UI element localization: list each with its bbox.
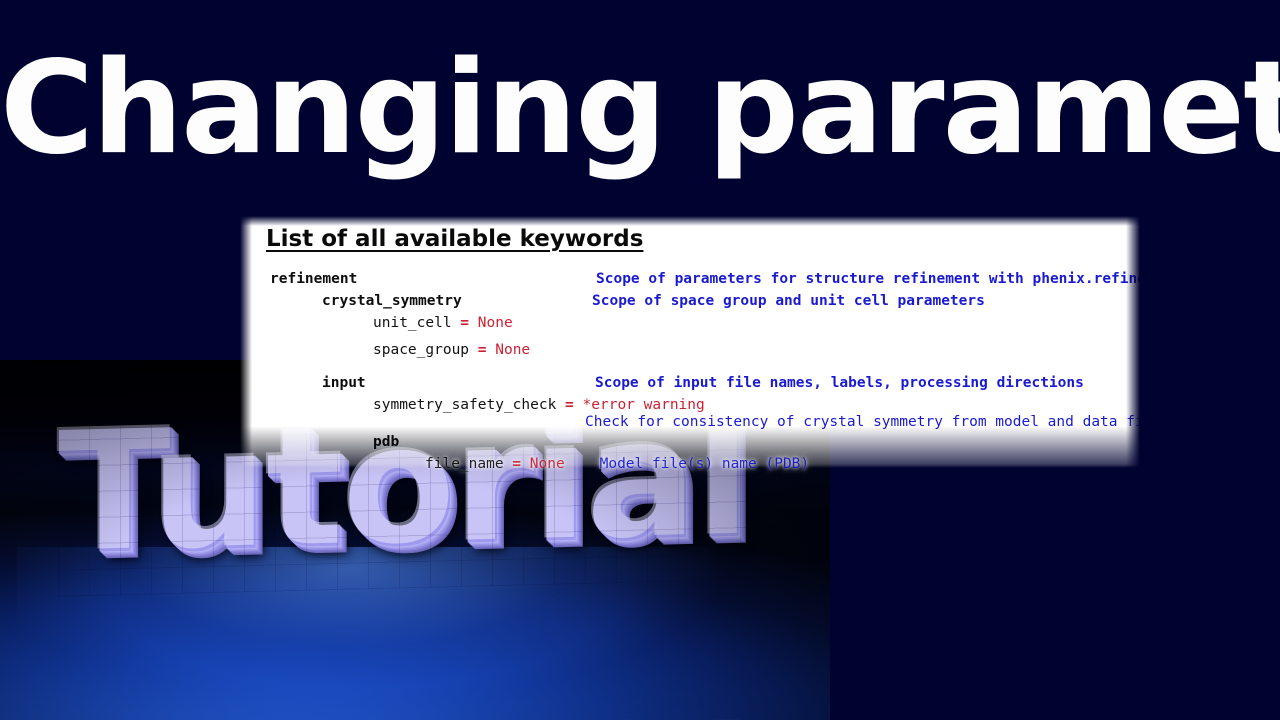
scope-pdb: pdb [373, 434, 399, 450]
param-space-group: space_group = None [373, 342, 530, 358]
comment-text: Model file(s) name (PDB) [565, 456, 809, 472]
keyword-text: input [322, 375, 366, 391]
assignment-operator: = [504, 456, 530, 472]
scope-refinement: refinement [270, 271, 357, 287]
assignment-operator: = [452, 315, 478, 331]
slide-title: Changing parameters [0, 34, 1280, 184]
param-symmetry-safety-check: symmetry_safety_check = *error warning [373, 397, 705, 413]
parameter-value: None [530, 456, 565, 472]
comment-comment-symmetry-safety-check: Check for consistency of crystal symmetr… [585, 414, 1170, 430]
scope-crystal-symmetry: crystal_symmetry [322, 293, 462, 309]
keyword-text: space_group [373, 342, 469, 358]
scope-input: input [322, 375, 366, 391]
parameter-value: None [495, 342, 530, 358]
assignment-operator: = [469, 342, 495, 358]
slide-canvas: Tutorial Tutorial Tutorial Changing para… [0, 0, 1280, 720]
parameter-value: *error warning [583, 397, 705, 413]
comment-scope-refinement: Scope of parameters for structure refine… [596, 271, 1146, 287]
keyword-text: unit_cell [373, 315, 452, 331]
parameter-value: None [478, 315, 513, 331]
param-unit-cell: unit_cell = None [373, 315, 513, 331]
keyword-text: crystal_symmetry [322, 293, 462, 309]
keyword-text: file_name [425, 456, 504, 472]
assignment-operator: = [556, 397, 582, 413]
keyword-text: symmetry_safety_check [373, 397, 556, 413]
param-file-name: file_name = None Model file(s) name (PDB… [425, 456, 809, 472]
keyword-text: refinement [270, 271, 357, 287]
keyword-list-panel: List of all available keywords refinemen… [240, 216, 1140, 468]
keyword-text: pdb [373, 434, 399, 450]
comment-scope-crystal-symmetry: Scope of space group and unit cell param… [592, 293, 985, 309]
comment-scope-input: Scope of input file names, labels, proce… [595, 375, 1084, 391]
panel-heading: List of all available keywords [266, 226, 643, 252]
